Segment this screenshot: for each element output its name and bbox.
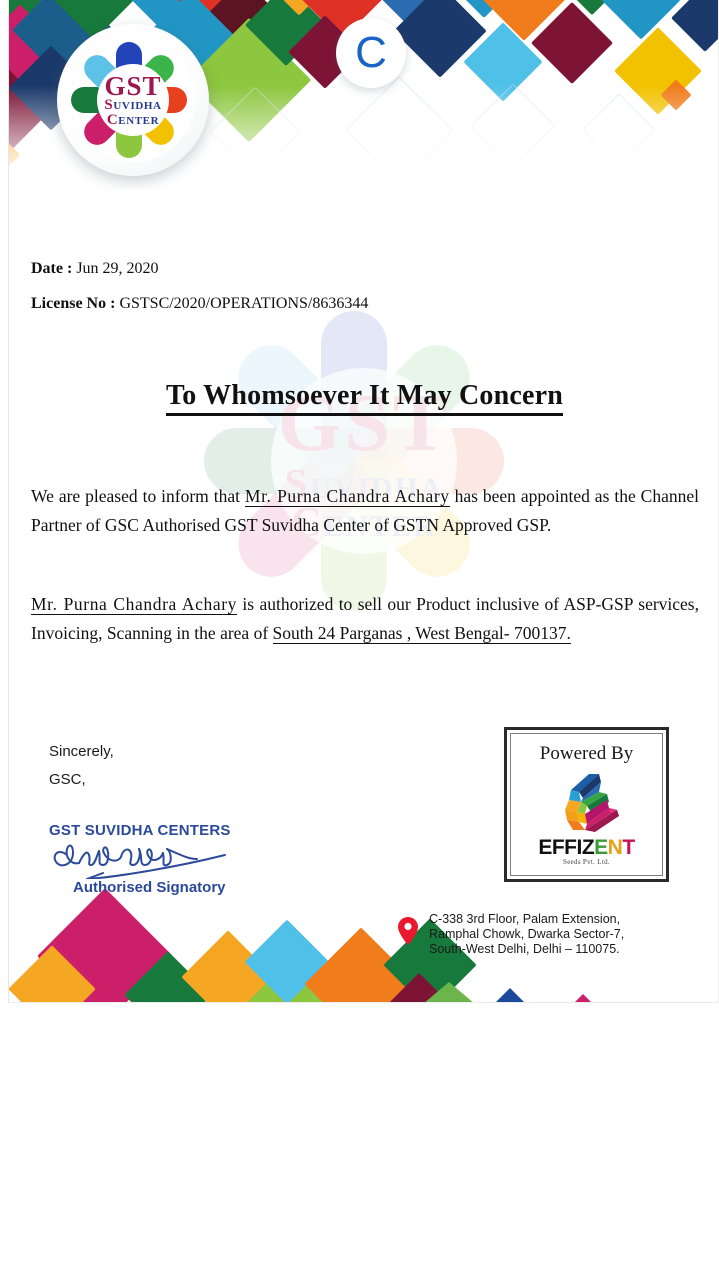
powered-by-box: Powered By	[504, 727, 669, 882]
gst-suvidha-center-logo: GST SUVIDHA CENTER	[57, 24, 209, 176]
partner-name-1: Mr. Purna Chandra Achary	[245, 486, 450, 507]
location-pin-icon	[397, 916, 419, 950]
license-row: License No : GSTSC/2020/OPERATIONS/86363…	[31, 295, 368, 313]
deco-diamond	[671, 0, 719, 52]
header-decoration: C GST SUVIDHA CENTER	[9, 0, 719, 190]
license-label: License No :	[31, 295, 115, 312]
logo-text-center: CENTER	[71, 112, 195, 129]
powered-by-inner: Powered By	[510, 733, 663, 876]
address-line-3: South-West Delhi, Delhi – 110075.	[429, 942, 624, 957]
date-value: Jun 29, 2020	[76, 260, 158, 277]
paragraph-authorization: Mr. Purna Chandra Achary is authorized t…	[31, 590, 699, 648]
deco-diamond-outline	[345, 76, 452, 183]
paragraph-1-pre: We are pleased to inform that	[31, 486, 245, 506]
paragraph-appointment: We are pleased to inform that Mr. Purna …	[31, 482, 699, 540]
entity-text: GSC,	[49, 766, 239, 794]
address-line-2: Ramphal Chowk, Dwarka Sector-7,	[429, 927, 624, 942]
deco-triangle	[574, 994, 592, 1002]
document-page: C GST SUVIDHA CENTER	[0, 0, 719, 1263]
logo-inner-disc: GST SUVIDHA CENTER	[71, 38, 195, 162]
closing-text: Sincerely,	[49, 738, 239, 766]
date-label: Date :	[31, 260, 72, 277]
date-row: Date : Jun 29, 2020	[31, 260, 159, 278]
handwritten-signature	[49, 839, 239, 879]
powered-by-label: Powered By	[511, 743, 662, 765]
signatory-designation: Authorised Signatory	[73, 879, 239, 896]
c-monogram-icon: C	[336, 18, 406, 88]
page-title: To Whomsoever It May Concern	[9, 380, 719, 412]
territory-area: South 24 Parganas , West Bengal- 700137.	[273, 623, 571, 644]
deco-diamond-outline	[582, 93, 656, 167]
license-value: GSTSC/2020/OPERATIONS/8636344	[119, 295, 368, 312]
effizent-wordmark: EFFIZENT	[511, 836, 662, 860]
page-watermark: GST SUVIDHA CENTER	[199, 318, 529, 628]
deco-diamond	[601, 0, 680, 40]
page-title-text: To Whomsoever It May Concern	[166, 380, 563, 416]
letter-sheet: C GST SUVIDHA CENTER	[8, 0, 719, 1003]
c-monogram-letter: C	[336, 31, 406, 75]
company-address: C-338 3rd Floor, Palam Extension, Rampha…	[429, 912, 624, 957]
logo-wordmark: GST SUVIDHA CENTER	[71, 38, 195, 162]
address-line-1: C-338 3rd Floor, Palam Extension,	[429, 912, 624, 927]
logo-text-gst: GST	[71, 71, 195, 102]
partner-name-2: Mr. Purna Chandra Achary	[31, 594, 237, 615]
logo-text-suvidha: SUVIDHA	[71, 100, 195, 112]
signature-block: Sincerely, GSC, GST SUVIDHA CENTERS	[49, 738, 239, 896]
effizent-logo-icon	[541, 772, 641, 839]
deco-diamond-outline	[471, 84, 556, 169]
deco-triangle	[423, 982, 475, 1002]
deco-triangle	[496, 988, 524, 1002]
effizent-tagline: Seeds Pvt. Ltd.	[511, 858, 662, 866]
